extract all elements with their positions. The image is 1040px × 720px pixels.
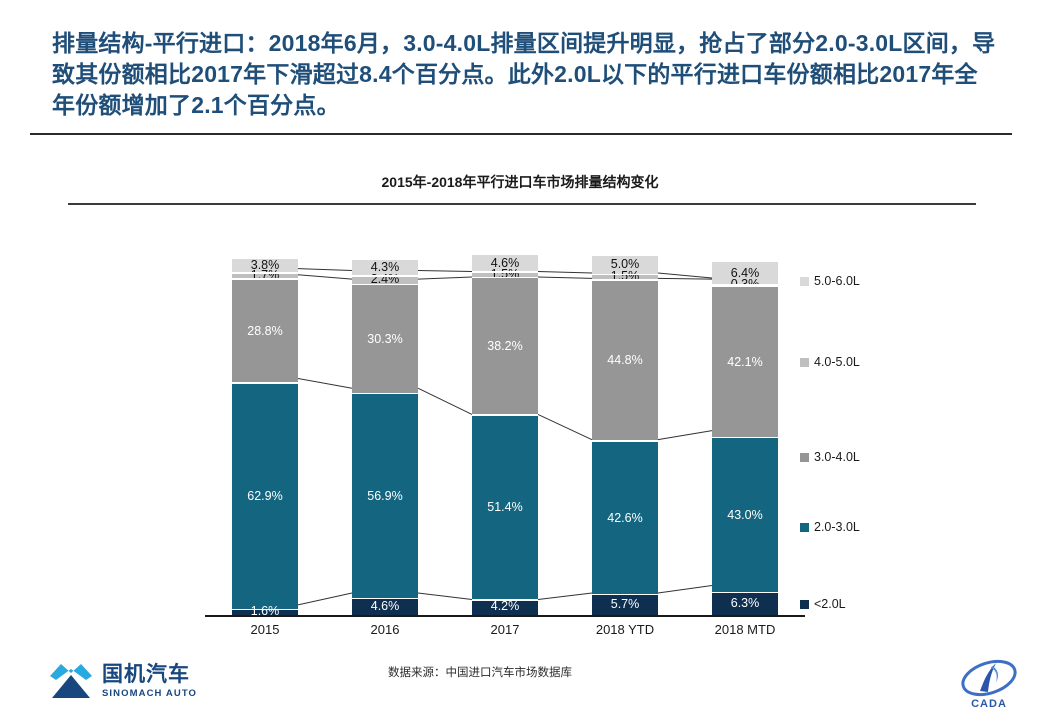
legend-label: 3.0-4.0L: [814, 450, 860, 464]
segment-separator: [352, 393, 418, 395]
cada-logo: CADA: [958, 658, 1020, 710]
slide-canvas: 排量结构-平行进口：2018年6月，3.0-4.0L排量区间提升明显，抢占了部分…: [0, 0, 1040, 720]
segment-separator: [352, 598, 418, 600]
legend-swatch: [800, 277, 809, 286]
legend-item[interactable]: 4.0-5.0L: [800, 355, 860, 369]
segment-separator: [592, 440, 658, 442]
x-axis-line: [205, 615, 805, 617]
sinomach-wordmark: 国机汽车 SINOMACH AUTO: [102, 664, 197, 699]
bar-segment[interactable]: 4.2%: [472, 600, 538, 615]
x-axis-label: 2018 MTD: [690, 622, 800, 637]
header-divider: [30, 133, 1012, 135]
segment-separator: [472, 271, 538, 273]
bar-segment[interactable]: 5.7%: [592, 594, 658, 615]
bar-segment-label: 38.2%: [487, 340, 522, 353]
x-axis-label: 2015: [210, 622, 320, 637]
legend-item[interactable]: 2.0-3.0L: [800, 520, 860, 534]
segment-separator: [592, 279, 658, 281]
bar-column[interactable]: 6.4%0.3%42.1%43.0%6.3%: [712, 262, 778, 615]
bar-column[interactable]: 5.0%1.5%44.8%42.6%5.7%: [592, 256, 658, 615]
segment-separator: [352, 275, 418, 277]
sinomach-auto-logo: 国机汽车 SINOMACH AUTO: [48, 660, 197, 702]
stacked-bar-plot-area: 3.8%1.7%28.8%62.9%1.6%4.3%2.4%30.3%56.9%…: [205, 255, 805, 615]
legend-swatch: [800, 600, 809, 609]
bar-segment[interactable]: 56.9%: [352, 394, 418, 599]
sinomach-name-en: SINOMACH AUTO: [102, 689, 197, 699]
bar-segment[interactable]: 43.0%: [712, 438, 778, 593]
bar-column[interactable]: 3.8%1.7%28.8%62.9%1.6%: [232, 259, 298, 615]
segment-separator: [232, 609, 298, 611]
chart-legend: 5.0-6.0L4.0-5.0L3.0-4.0L2.0-3.0L<2.0L: [800, 262, 920, 617]
cada-wordmark: CADA: [958, 698, 1020, 710]
legend-swatch: [800, 523, 809, 532]
bar-segment-label: 43.0%: [727, 509, 762, 522]
bar-segment[interactable]: 30.3%: [352, 285, 418, 394]
bar-segment-label: 44.8%: [607, 354, 642, 367]
bar-segment[interactable]: 38.2%: [472, 277, 538, 415]
legend-label: 4.0-5.0L: [814, 355, 860, 369]
segment-separator: [232, 272, 298, 274]
legend-swatch: [800, 358, 809, 367]
bar-column[interactable]: 4.3%2.4%30.3%56.9%4.6%: [352, 260, 418, 615]
chart-title: 2015年-2018年平行进口车市场排量结构变化: [65, 172, 975, 192]
bar-segment[interactable]: 62.9%: [232, 383, 298, 609]
segment-separator: [472, 414, 538, 416]
bar-segment-label: 42.6%: [607, 512, 642, 525]
chart-title-divider: [68, 203, 976, 205]
bar-segment-label: 56.9%: [367, 490, 402, 503]
bar-segment-label: 42.1%: [727, 356, 762, 369]
legend-label: <2.0L: [814, 597, 846, 611]
legend-swatch: [800, 453, 809, 462]
bar-segment[interactable]: 44.8%: [592, 280, 658, 441]
legend-item[interactable]: 3.0-4.0L: [800, 450, 860, 464]
segment-separator: [472, 277, 538, 279]
bar-segment[interactable]: 6.3%: [712, 592, 778, 615]
bar-segment-label: 30.3%: [367, 333, 402, 346]
x-axis-label: 2018 YTD: [570, 622, 680, 637]
x-axis-label: 2017: [450, 622, 560, 637]
bar-segment[interactable]: 51.4%: [472, 415, 538, 600]
bar-segment[interactable]: 28.8%: [232, 279, 298, 383]
segment-separator: [712, 592, 778, 594]
bar-segment-label: 51.4%: [487, 501, 522, 514]
source-note: 数据来源：中国进口汽车市场数据库: [300, 664, 660, 680]
x-axis-label: 2016: [330, 622, 440, 637]
bar-segment-label: 4.2%: [491, 600, 520, 613]
bar-segment[interactable]: 4.6%: [352, 598, 418, 615]
segment-separator: [232, 382, 298, 384]
bar-segment-label: 62.9%: [247, 490, 282, 503]
bar-segment[interactable]: 42.1%: [712, 286, 778, 438]
segment-separator: [712, 285, 778, 287]
segment-separator: [592, 594, 658, 596]
bar-segment[interactable]: 42.6%: [592, 441, 658, 594]
sinomach-name-cn: 国机汽车: [102, 664, 197, 685]
bar-segment-label: 5.7%: [611, 598, 640, 611]
legend-item[interactable]: <2.0L: [800, 597, 846, 611]
bar-segment-label: 6.3%: [731, 597, 760, 610]
bar-column[interactable]: 4.6%1.5%38.2%51.4%4.2%: [472, 255, 538, 615]
page-title: 排量结构-平行进口：2018年6月，3.0-4.0L排量区间提升明显，抢占了部分…: [52, 28, 1000, 121]
segment-separator: [352, 284, 418, 286]
segment-separator: [592, 274, 658, 276]
legend-label: 5.0-6.0L: [814, 274, 860, 288]
segment-separator: [232, 278, 298, 280]
cada-swirl-icon: [958, 658, 1020, 698]
segment-separator: [472, 599, 538, 601]
legend-label: 2.0-3.0L: [814, 520, 860, 534]
legend-item[interactable]: 5.0-6.0L: [800, 274, 860, 288]
bar-segment-label: 4.6%: [371, 600, 400, 613]
segment-separator: [712, 437, 778, 439]
sinomach-mountain-icon: [48, 660, 94, 702]
bar-segment-label: 28.8%: [247, 325, 282, 338]
